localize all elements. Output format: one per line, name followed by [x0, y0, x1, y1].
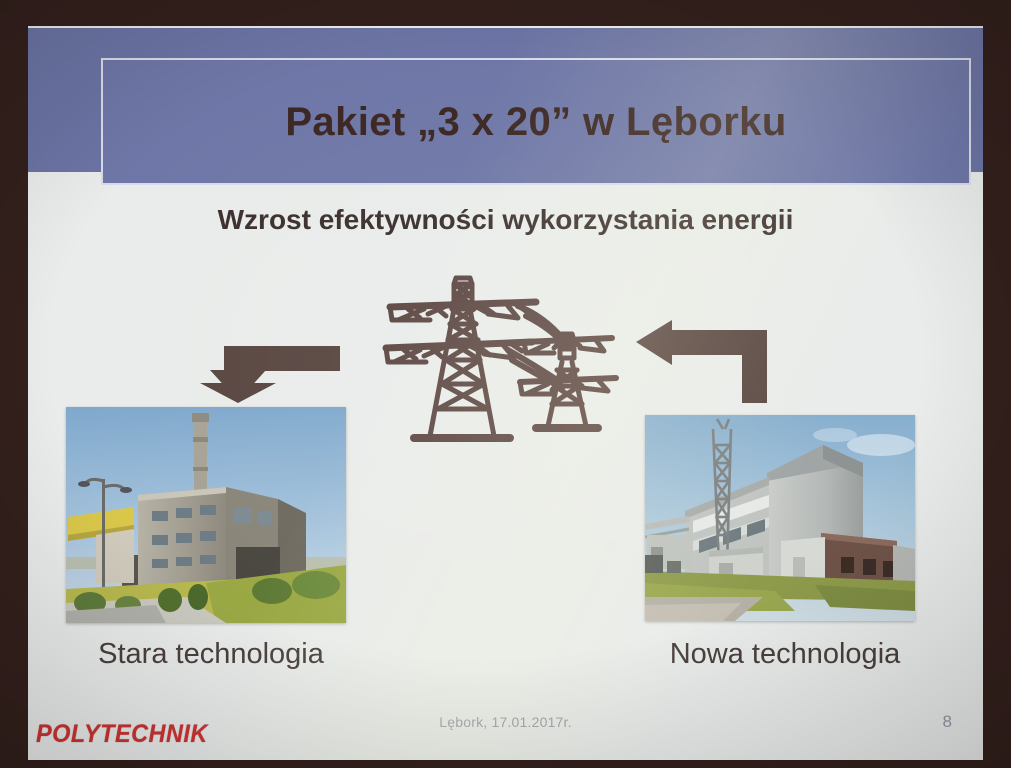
slide-title: Pakiet „3 x 20” w Lęborku — [285, 100, 786, 144]
arrow-left-icon — [628, 308, 788, 403]
new-technology-caption: Nowa technologia — [640, 638, 930, 671]
old-technology-caption: Stara technologia — [66, 638, 356, 671]
presentation-slide: Pakiet „3 x 20” w Lęborku Wzrost efektyw… — [28, 26, 983, 760]
slide-page-number: 8 — [28, 712, 952, 732]
new-heating-plant-photo — [645, 415, 915, 621]
projection-surround: Pakiet „3 x 20” w Lęborku Wzrost efektyw… — [0, 0, 1011, 768]
arrow-down-left-icon — [180, 308, 340, 403]
title-box: Pakiet „3 x 20” w Lęborku — [101, 58, 971, 185]
power-pylon-icon — [368, 254, 628, 459]
old-heating-plant-photo — [66, 407, 346, 623]
slide-subtitle: Wzrost efektywności wykorzystania energi… — [28, 204, 983, 236]
